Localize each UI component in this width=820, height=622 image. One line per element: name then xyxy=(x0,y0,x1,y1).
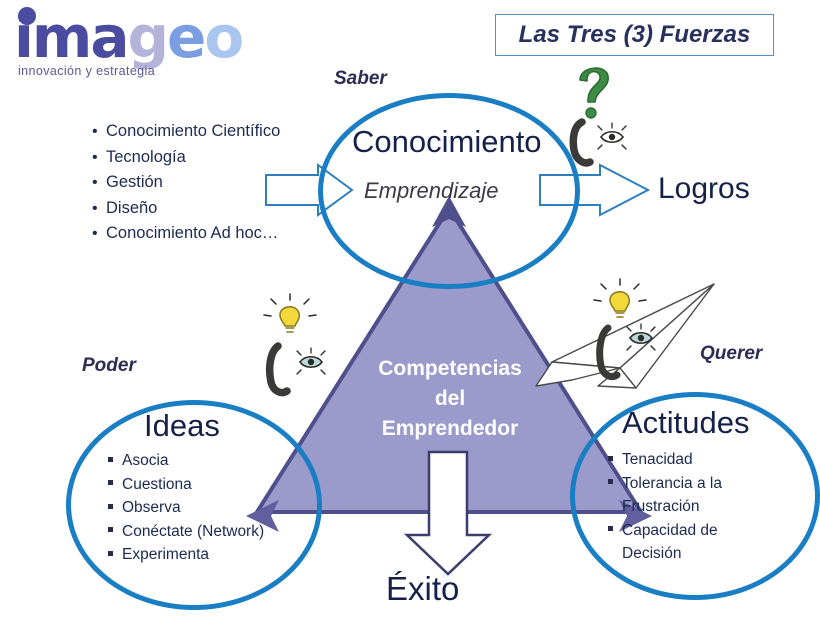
list-item: Tenacidad xyxy=(608,448,808,472)
triangle-text-line2: del xyxy=(335,384,565,414)
bullet-dot-icon: • xyxy=(92,221,106,247)
list-item: Tolerancia a la xyxy=(608,472,808,496)
list-item-label: Tenacidad xyxy=(622,448,693,472)
list-item-label: Conocimiento Científico xyxy=(106,119,280,145)
list-item-label: Asocia xyxy=(122,449,169,473)
actitudes-bullet-list: Tenacidad Tolerancia a la Frustración Ca… xyxy=(608,448,808,566)
bullet-dot-icon: • xyxy=(92,119,106,145)
list-item: Capacidad de xyxy=(608,519,808,543)
bullet-square-icon xyxy=(608,448,622,472)
lightbulb-icon xyxy=(264,294,316,332)
logo-seg-e: e xyxy=(167,3,204,71)
triangle-text-line3: Emprendedor xyxy=(335,414,565,444)
circle-heading-ideas: Ideas xyxy=(144,408,220,444)
list-item: •Tecnología xyxy=(92,145,347,171)
list-item: •Conocimiento Científico xyxy=(92,119,347,145)
lightbulb-icon xyxy=(594,279,646,317)
bullet-square-icon xyxy=(108,473,122,497)
bullet-dot-icon: • xyxy=(92,170,106,196)
triangle-text-line1: Competencias xyxy=(335,354,565,384)
bullet-square-icon xyxy=(108,449,122,473)
logo-seg-g: g xyxy=(127,3,167,71)
title-box: Las Tres (3) Fuerzas xyxy=(495,14,774,56)
list-item-label: Capacidad de xyxy=(622,519,718,543)
bullet-dot-icon: • xyxy=(92,145,106,171)
bullet-square-icon xyxy=(108,543,122,567)
list-item-continuation: Decisión xyxy=(608,542,808,566)
list-item-label: Experimenta xyxy=(122,543,209,567)
list-item-label: Diseño xyxy=(106,196,157,222)
bullet-dot-icon: • xyxy=(92,196,106,222)
arrow-to-exito xyxy=(407,452,489,574)
inverted-question-hook-icon xyxy=(573,122,590,163)
list-item-label: Cuestiona xyxy=(122,473,192,497)
bullet-square-icon xyxy=(608,472,622,496)
force-label-poder: Poder xyxy=(82,355,136,377)
page-title: Las Tres (3) Fuerzas xyxy=(519,21,751,49)
list-item: •Gestión xyxy=(92,170,347,196)
force-label-saber: Saber xyxy=(334,68,387,90)
bullet-square-icon xyxy=(608,519,622,543)
list-item: Experimenta xyxy=(108,543,323,567)
eye-doodle-icon xyxy=(297,348,325,374)
list-item-label: Tecnología xyxy=(106,145,186,171)
list-item-label: Tolerancia a la xyxy=(622,472,722,496)
imageo-logo: imageo innovación y estrategia xyxy=(8,2,308,82)
saber-bullet-list: •Conocimiento Científico •Tecnología •Ge… xyxy=(92,119,347,247)
output-label-logros: Logros xyxy=(658,172,750,206)
logo-tagline: innovación y estrategia xyxy=(18,64,155,78)
green-question-mark-icon xyxy=(580,68,608,118)
list-item-label: Observa xyxy=(122,496,181,520)
triangle-center-text: Competencias del Emprendedor xyxy=(335,354,565,444)
diagram-canvas: imageo innovación y estrategia Las Tres … xyxy=(0,0,820,622)
bullet-square-icon xyxy=(108,520,122,544)
circle-subtext-emprendizaje: Emprendizaje xyxy=(364,178,499,204)
list-item: Conéctate (Network) xyxy=(108,520,323,544)
list-item: Cuestiona xyxy=(108,473,323,497)
eye-doodle-icon xyxy=(598,123,626,149)
bullet-square-icon xyxy=(108,496,122,520)
list-item: Observa xyxy=(108,496,323,520)
list-item-label: Decisión xyxy=(622,542,681,566)
list-item-label: Frustración xyxy=(622,495,700,519)
output-label-exito: Éxito xyxy=(386,570,459,608)
eye-doodle-icon xyxy=(627,324,655,350)
list-item-label: Gestión xyxy=(106,170,163,196)
list-item: •Diseño xyxy=(92,196,347,222)
logo-seg-o: o xyxy=(204,3,242,71)
circle-heading-conocimiento: Conocimiento xyxy=(352,124,542,160)
hook-stroke-icon xyxy=(270,346,287,393)
circle-heading-actitudes: Actitudes xyxy=(622,405,750,441)
list-item-continuation: Frustración xyxy=(608,495,808,519)
hook-stroke-icon xyxy=(600,328,617,377)
list-item: Asocia xyxy=(108,449,323,473)
list-item-label: Conocimiento Ad hoc… xyxy=(106,221,278,247)
list-item-label: Conéctate (Network) xyxy=(122,520,264,544)
list-item: •Conocimiento Ad hoc… xyxy=(92,221,347,247)
ideas-bullet-list: Asocia Cuestiona Observa Conéctate (Netw… xyxy=(108,449,323,567)
force-label-querer: Querer xyxy=(700,343,762,365)
logo-wordmark: imageo xyxy=(14,8,242,66)
logo-seg-ima: ima xyxy=(14,3,127,71)
